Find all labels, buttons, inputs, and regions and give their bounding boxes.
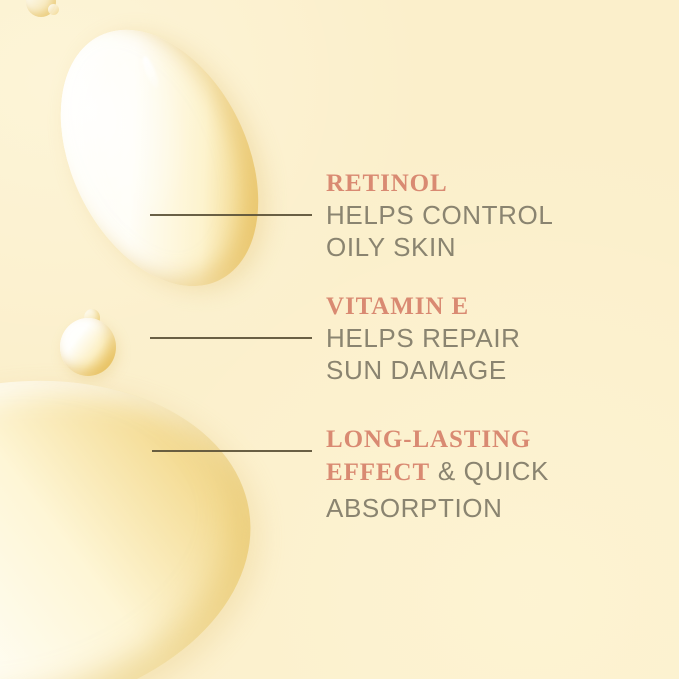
benefit-headline-continued: EFFECT [326, 459, 430, 486]
benefit-copy: VITAMIN E HELPS REPAIR SUN DAMAGE [326, 291, 521, 386]
benefit-body-line-2: SUN DAMAGE [326, 354, 521, 386]
benefit-headline: LONG-LASTING [326, 424, 549, 455]
benefit-headline: VITAMIN E [326, 291, 521, 322]
leader-rule [150, 214, 312, 216]
benefit-body-line-1: HELPS REPAIR [326, 322, 521, 354]
benefit-copy: RETINOL HELPS CONTROL OILY SKIN [326, 168, 553, 263]
benefit-headline: RETINOL [326, 168, 553, 199]
benefit-body-line-1: HELPS CONTROL [326, 199, 553, 231]
benefit-body-inline: & QUICK [430, 456, 549, 486]
benefit-mixed-line: EFFECT & QUICK [326, 455, 549, 492]
benefit-copy: LONG-LASTING EFFECT & QUICK ABSORPTION [326, 424, 549, 524]
leader-rule [152, 450, 312, 452]
benefit-body-line-2: OILY SKIN [326, 231, 553, 263]
image-canvas: RETINOL HELPS CONTROL OILY SKIN VITAMIN … [0, 0, 679, 679]
leader-rule [150, 337, 312, 339]
benefit-body-line-1: ABSORPTION [326, 492, 549, 524]
benefit-list: RETINOL HELPS CONTROL OILY SKIN VITAMIN … [0, 0, 679, 679]
